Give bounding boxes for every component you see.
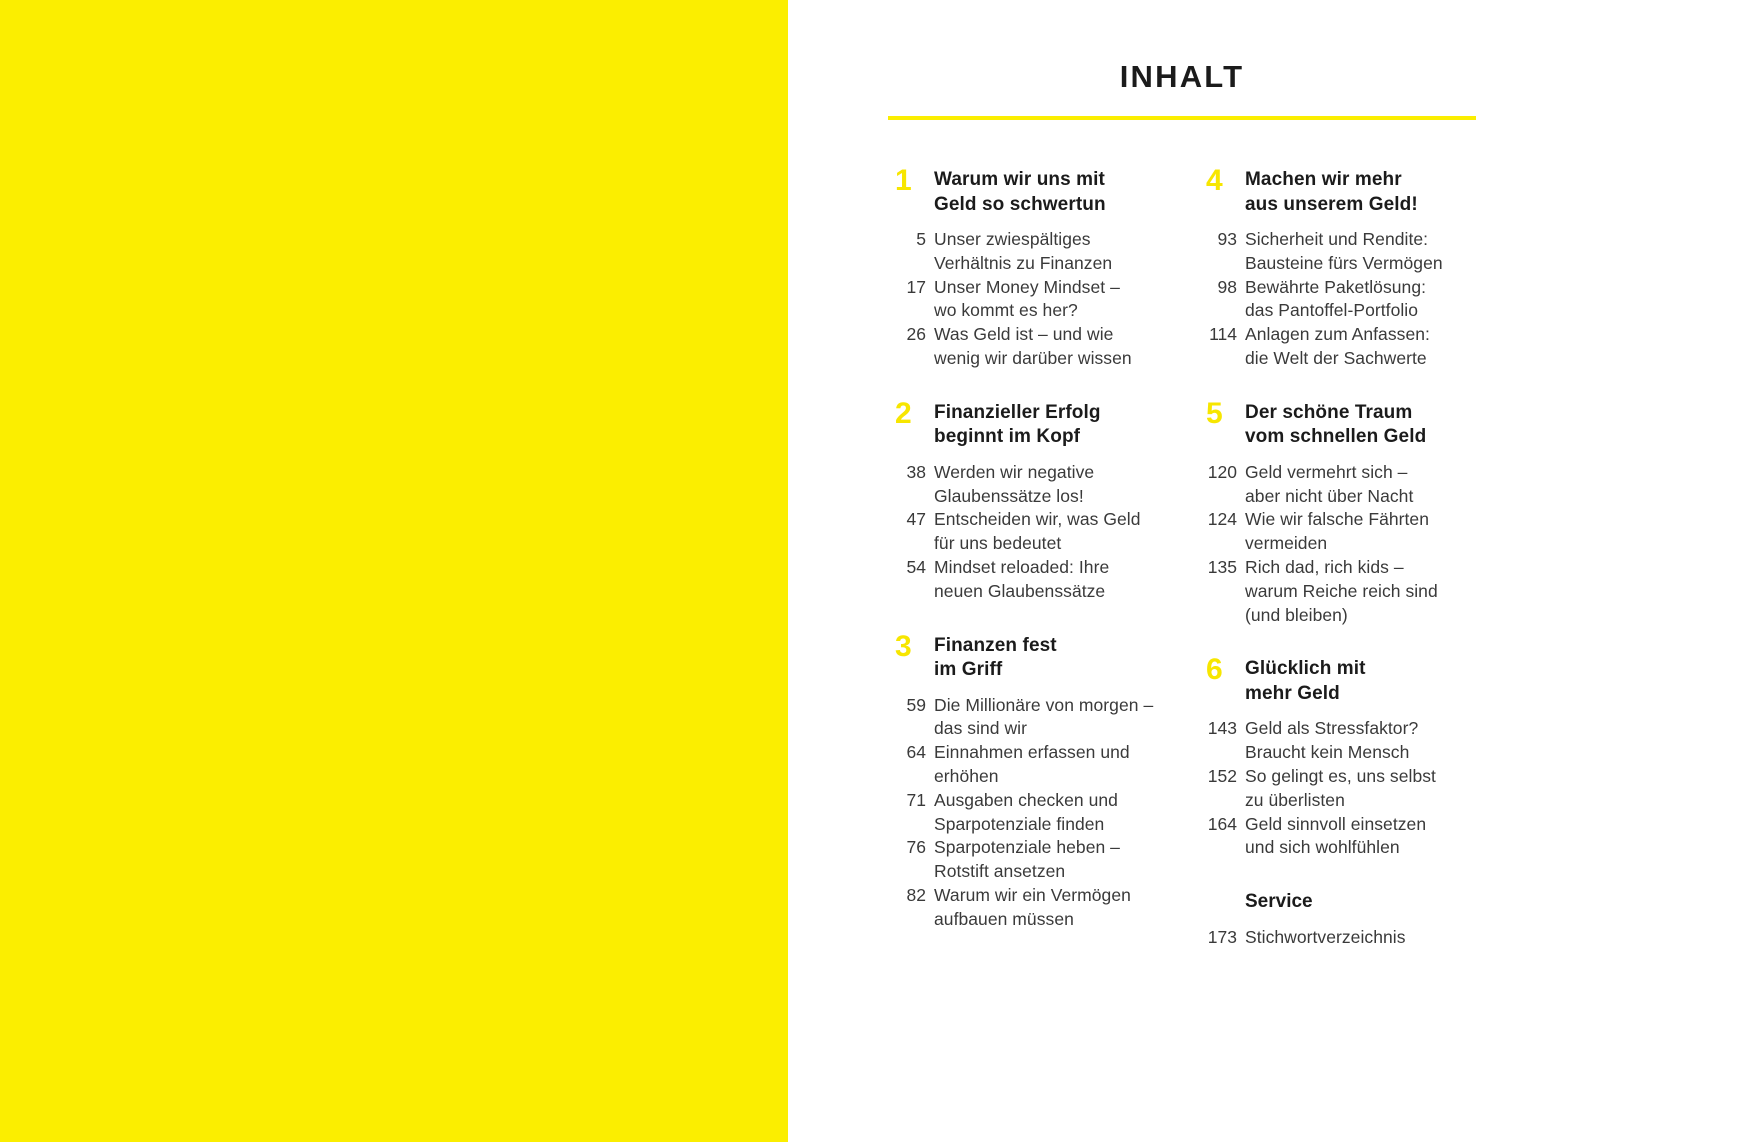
chapter-number: 2 [888,401,934,427]
chapter-block: 5Der schöne Traum vom schnellen Geld120G… [1199,401,1476,628]
chapter-title: Glücklich mit mehr Geld [1245,657,1476,706]
service-heading: Service [1199,890,1476,915]
entry-page-number: 47 [888,508,934,532]
toc-container: INHALT 1Warum wir uns mit Geld so schwer… [888,60,1476,962]
chapter-title: Machen wir mehr aus unserem Geld! [1245,168,1476,217]
chapter-heading[interactable]: 5Der schöne Traum vom schnellen Geld [1199,401,1476,450]
entry-label: Entscheiden wir, was Geld für uns bedeut… [934,508,1165,556]
toc-column-2: 4Machen wir mehr aus unserem Geld!93Sich… [1199,168,1476,949]
entry-label: Wie wir falsche Fährten vermeiden [1245,508,1476,556]
chapter-title: Finanzen fest im Griff [934,634,1165,683]
chapter-title: Finanzieller Erfolg beginnt im Kopf [934,401,1165,450]
chapter-number: 3 [888,634,934,660]
entry-page-number: 26 [888,323,934,347]
toc-entry[interactable]: 26Was Geld ist – und wie wenig wir darüb… [888,323,1165,371]
entry-label: Rich dad, rich kids – warum Reiche reich… [1245,556,1476,627]
entry-page-number: 71 [888,789,934,813]
entry-page-number: 98 [1199,276,1245,300]
toc-entry[interactable]: 173Stichwortverzeichnis [1199,926,1476,950]
service-block: Service173Stichwortverzeichnis [1199,890,1476,949]
chapter-heading[interactable]: 3Finanzen fest im Griff [888,634,1165,683]
service-number-spacer [1199,890,1245,915]
entry-page-number: 64 [888,741,934,765]
toc-entry[interactable]: 59Die Millionäre von morgen – das sind w… [888,694,1165,742]
entry-label: Werden wir negative Glaubenssätze los! [934,461,1165,509]
toc-entry[interactable]: 82Warum wir ein Vermögen aufbauen müssen [888,884,1165,932]
entry-label: Einnahmen erfassen und erhöhen [934,741,1165,789]
chapter-block: 6Glücklich mit mehr Geld143Geld als Stre… [1199,657,1476,860]
toc-entry[interactable]: 5Unser zwiespältiges Verhältnis zu Finan… [888,228,1165,276]
entry-page-number: 120 [1199,461,1245,485]
entry-page-number: 143 [1199,717,1245,741]
chapter-block: 1Warum wir uns mit Geld so schwertun5Uns… [888,168,1165,371]
entry-label: Warum wir ein Vermögen aufbauen müssen [934,884,1165,932]
entry-page-number: 54 [888,556,934,580]
toc-entry[interactable]: 47Entscheiden wir, was Geld für uns bede… [888,508,1165,556]
toc-entry[interactable]: 54Mindset reloaded: Ihre neuen Glaubenss… [888,556,1165,604]
entry-page-number: 152 [1199,765,1245,789]
toc-page: INHALT 1Warum wir uns mit Geld so schwer… [0,0,1753,1142]
entry-label: Geld sinnvoll einsetzen und sich wohlfüh… [1245,813,1476,861]
toc-column-1: 1Warum wir uns mit Geld so schwertun5Uns… [888,168,1165,962]
entry-label: So gelingt es, uns selbst zu überlisten [1245,765,1476,813]
toc-entry[interactable]: 76Sparpotenziale heben – Rotstift ansetz… [888,836,1165,884]
title-underline-rule [888,116,1476,120]
entry-label: Unser Money Mindset – wo kommt es her? [934,276,1165,324]
chapter-heading[interactable]: 2Finanzieller Erfolg beginnt im Kopf [888,401,1165,450]
entry-page-number: 135 [1199,556,1245,580]
chapter-block: 3Finanzen fest im Griff59Die Millionäre … [888,634,1165,932]
chapter-number: 6 [1199,657,1245,683]
toc-columns: 1Warum wir uns mit Geld so schwertun5Uns… [888,168,1476,962]
toc-entry[interactable]: 98Bewährte Paketlösung: das Pantoffel-Po… [1199,276,1476,324]
entry-page-number: 82 [888,884,934,908]
yellow-decorative-panel [0,0,788,1142]
toc-entry[interactable]: 93Sicherheit und Rendite: Bausteine fürs… [1199,228,1476,276]
entry-page-number: 76 [888,836,934,860]
entry-label: Unser zwiespältiges Verhältnis zu Finanz… [934,228,1165,276]
entry-page-number: 17 [888,276,934,300]
entry-label: Sparpotenziale heben – Rotstift ansetzen [934,836,1165,884]
toc-entry[interactable]: 164Geld sinnvoll einsetzen und sich wohl… [1199,813,1476,861]
entry-label: Sicherheit und Rendite: Bausteine fürs V… [1245,228,1476,276]
entry-label: Anlagen zum Anfassen: die Welt der Sachw… [1245,323,1476,371]
entry-page-number: 93 [1199,228,1245,252]
chapter-number: 4 [1199,168,1245,194]
chapter-heading[interactable]: 6Glücklich mit mehr Geld [1199,657,1476,706]
entry-page-number: 173 [1199,926,1245,950]
chapter-block: 2Finanzieller Erfolg beginnt im Kopf38We… [888,401,1165,604]
chapter-heading[interactable]: 1Warum wir uns mit Geld so schwertun [888,168,1165,217]
entry-label: Was Geld ist – und wie wenig wir darüber… [934,323,1165,371]
toc-entry[interactable]: 64Einnahmen erfassen und erhöhen [888,741,1165,789]
entry-label: Ausgaben checken und Sparpotenziale find… [934,789,1165,837]
toc-entry[interactable]: 17Unser Money Mindset – wo kommt es her? [888,276,1165,324]
entry-label: Die Millionäre von morgen – das sind wir [934,694,1165,742]
toc-entry[interactable]: 120Geld vermehrt sich – aber nicht über … [1199,461,1476,509]
entry-page-number: 124 [1199,508,1245,532]
toc-entry[interactable]: 114Anlagen zum Anfassen: die Welt der Sa… [1199,323,1476,371]
toc-content-panel: INHALT 1Warum wir uns mit Geld so schwer… [788,0,1753,1142]
entry-label: Geld vermehrt sich – aber nicht über Nac… [1245,461,1476,509]
entry-label: Bewährte Paketlösung: das Pantoffel-Port… [1245,276,1476,324]
entry-page-number: 114 [1199,323,1245,347]
service-title: Service [1245,890,1476,915]
entry-page-number: 38 [888,461,934,485]
page-title: INHALT [888,60,1476,94]
toc-entry[interactable]: 152So gelingt es, uns selbst zu überlist… [1199,765,1476,813]
toc-entry[interactable]: 38Werden wir negative Glaubenssätze los! [888,461,1165,509]
entry-label: Mindset reloaded: Ihre neuen Glaubenssät… [934,556,1165,604]
chapter-block: 4Machen wir mehr aus unserem Geld!93Sich… [1199,168,1476,371]
chapter-title: Warum wir uns mit Geld so schwertun [934,168,1165,217]
entry-page-number: 5 [888,228,934,252]
entry-label: Stichwortverzeichnis [1245,926,1476,950]
toc-entry[interactable]: 143Geld als Stressfaktor? Braucht kein M… [1199,717,1476,765]
chapter-number: 1 [888,168,934,194]
chapter-title: Der schöne Traum vom schnellen Geld [1245,401,1476,450]
toc-entry[interactable]: 124Wie wir falsche Fährten vermeiden [1199,508,1476,556]
chapter-number: 5 [1199,401,1245,427]
entry-label: Geld als Stressfaktor? Braucht kein Mens… [1245,717,1476,765]
entry-page-number: 164 [1199,813,1245,837]
entry-page-number: 59 [888,694,934,718]
toc-entry[interactable]: 135Rich dad, rich kids – warum Reiche re… [1199,556,1476,627]
chapter-heading[interactable]: 4Machen wir mehr aus unserem Geld! [1199,168,1476,217]
toc-entry[interactable]: 71Ausgaben checken und Sparpotenziale fi… [888,789,1165,837]
